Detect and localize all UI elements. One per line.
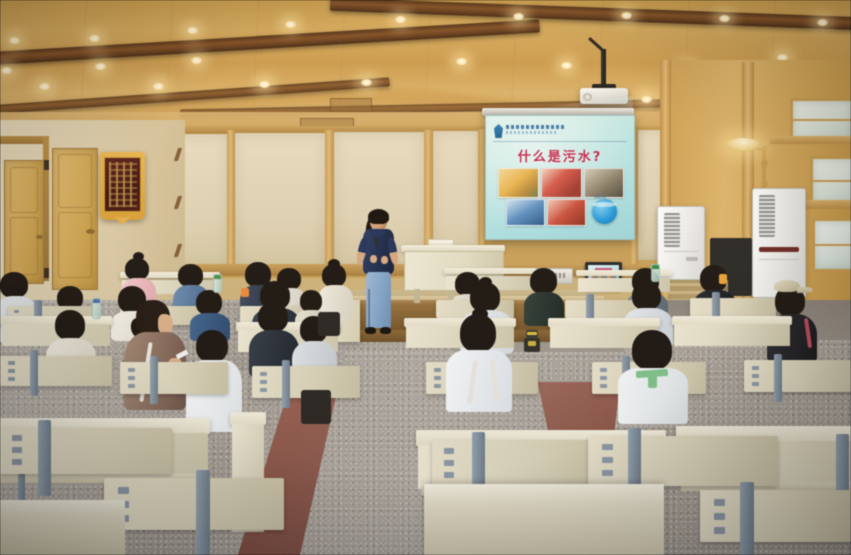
chair-row2[interactable] (0, 356, 112, 386)
chair-nub (600, 376, 607, 380)
chair-nub (444, 448, 454, 454)
person-head (632, 282, 661, 310)
toy-robot-figure (524, 330, 540, 352)
photo-thumb-5 (547, 199, 586, 226)
downlight-icon (190, 56, 203, 65)
photo-thumb-2 (541, 168, 582, 198)
downlight-icon (640, 95, 653, 104)
chair-nub (602, 470, 613, 476)
backpack (301, 390, 331, 424)
chair-post (282, 360, 290, 408)
sconce-bracket (761, 180, 768, 187)
globe-highlight (592, 202, 617, 207)
presenter-collar (371, 229, 385, 236)
air-conditioner-left (657, 206, 705, 280)
chair-nub (434, 376, 441, 380)
person-head (530, 268, 557, 294)
chair-post (150, 356, 158, 404)
presenter-shoe (380, 327, 391, 334)
window-mullion (793, 119, 851, 121)
downlight-icon (560, 61, 573, 70)
door-hinge-strip (44, 268, 49, 278)
person-head (196, 290, 222, 315)
downlight-icon (186, 26, 199, 35)
plaque-calligraphy (109, 162, 137, 207)
door-panel (10, 167, 38, 213)
chair-row4[interactable] (690, 298, 776, 317)
downlight-icon (360, 78, 373, 87)
person-head (55, 310, 85, 340)
chair-back (0, 356, 112, 386)
chair-back (744, 360, 851, 392)
slide-title: 什么是污水? (486, 146, 634, 165)
wall-acoustic-panel (234, 133, 326, 271)
person-head (300, 290, 322, 312)
downlight-icon (718, 14, 731, 23)
chair-nub (14, 310, 19, 313)
small-cup (241, 288, 249, 297)
chair-back (432, 440, 612, 488)
projector-lens-icon (583, 93, 592, 101)
slide-divider (493, 141, 627, 142)
person-head (178, 264, 203, 287)
presenter-leg-seam (368, 289, 370, 327)
chair-back (0, 428, 172, 474)
door-panel (58, 154, 92, 208)
downlight-icon (284, 20, 297, 29)
chair-nub (602, 457, 613, 463)
person-head (470, 282, 500, 312)
chair-post (740, 482, 754, 555)
person-head (460, 314, 496, 352)
door-panel (58, 212, 92, 278)
chair-nub (434, 368, 441, 372)
chair-nub (752, 374, 759, 378)
chair-back (588, 436, 778, 486)
toy-chest-plate (528, 341, 536, 346)
person-head (196, 330, 228, 362)
globe-label: 地球水量 (594, 195, 606, 199)
slide-logo-subtext (506, 131, 556, 134)
desk-row3 (672, 316, 792, 350)
person-head (125, 258, 149, 280)
plaque-board (104, 157, 141, 212)
wall-stile (325, 130, 334, 272)
chair-nub (434, 384, 441, 388)
chair-nub (12, 459, 22, 465)
downlight-icon (620, 11, 633, 20)
chair-front-row[interactable] (104, 478, 284, 530)
photo-thumb-3 (584, 168, 624, 198)
downlight-icon (152, 82, 165, 91)
door-frame (0, 136, 46, 144)
chair-nub (260, 372, 267, 376)
podium-leg (414, 289, 420, 303)
person-face (158, 314, 173, 334)
chair-nub (260, 388, 267, 392)
door-panel (10, 217, 38, 275)
ac-panel-line (759, 259, 799, 260)
ac-vent-slot (686, 257, 698, 261)
wall-plaque (100, 152, 145, 220)
presenter-hand (370, 255, 377, 263)
downlight-icon (0, 66, 13, 75)
chair-nub (714, 527, 725, 534)
chair-nub (128, 376, 135, 380)
window-mullion (813, 180, 851, 182)
person-head (0, 272, 28, 298)
chair-nub (8, 377, 15, 381)
downlight-icon (38, 82, 51, 91)
bottle-cap (652, 265, 659, 269)
chair-row2[interactable] (744, 360, 851, 392)
chair-nub (118, 487, 129, 494)
window (812, 218, 851, 272)
downlight-icon (88, 34, 101, 43)
person-torso (446, 350, 512, 412)
chair-post (196, 470, 210, 555)
chair-row2[interactable] (120, 362, 228, 394)
cap-brim (797, 287, 813, 293)
chair-post (774, 354, 782, 402)
globe-graphic (592, 199, 617, 224)
chair-nub (600, 384, 607, 388)
small-cup (719, 274, 727, 284)
presenter (356, 211, 400, 342)
sconce-light (726, 138, 760, 151)
chair-nub (444, 472, 454, 478)
downlight-icon (94, 62, 107, 71)
red-scarf (648, 374, 657, 388)
chair-post (30, 350, 38, 396)
chair-front-row[interactable] (432, 440, 612, 488)
downlight-icon (816, 18, 829, 27)
chair-post (38, 420, 51, 496)
presenter-jeans (366, 272, 391, 328)
projection-screen: 什么是污水? 地球水量 (485, 115, 635, 240)
water-bottle (651, 264, 660, 282)
presenter-shoe (365, 327, 376, 334)
chair-nub (714, 513, 725, 520)
person-head (322, 264, 346, 287)
downlight-icon (394, 15, 407, 24)
desk-top (444, 268, 536, 274)
chair-front-row[interactable] (588, 436, 778, 486)
chair-back (120, 362, 228, 394)
desk-front (674, 324, 790, 346)
chair-nub (444, 460, 454, 466)
sconce-bracket (761, 160, 768, 167)
chair-nub (752, 366, 759, 370)
door-hinge-strip (44, 160, 49, 170)
water-bottle (213, 274, 222, 293)
slide-logo-text (506, 125, 564, 129)
chair-front-row[interactable] (0, 428, 172, 474)
water-bottle (92, 298, 101, 319)
person-head (632, 330, 672, 370)
chair-back (690, 298, 776, 317)
chair-nub (8, 361, 15, 365)
right-wall-ledge (770, 136, 851, 144)
bottle-cap (214, 275, 221, 279)
door-right[interactable] (52, 148, 98, 290)
chair-nub (128, 368, 135, 372)
chair-nub (752, 382, 759, 386)
presenter-hair (368, 209, 389, 224)
ac-grille-icon (759, 195, 775, 237)
downlight-icon (455, 57, 468, 66)
chair-back (104, 478, 284, 530)
chair-nub (714, 499, 725, 506)
downlight-icon (8, 36, 21, 45)
chair-front-row[interactable] (700, 490, 851, 542)
photo-thumb-4 (506, 199, 545, 226)
ceiling-projector (601, 49, 606, 86)
ac-panel-line (664, 251, 698, 252)
door-left[interactable] (4, 160, 44, 284)
downlight-icon (258, 80, 271, 89)
lecture-hall-photo: 什么是污水? 地球水量 (0, 0, 851, 555)
bottle-cap (93, 299, 100, 303)
chair-nub (128, 384, 135, 388)
door-handle-icon[interactable] (86, 229, 95, 234)
chair-nub (602, 444, 613, 450)
window (810, 156, 851, 206)
chair-nub (600, 368, 607, 372)
person-head (258, 302, 288, 332)
ac-grille-icon (664, 213, 680, 247)
chair-nub (12, 435, 22, 441)
ac-indicator-strip (759, 247, 799, 252)
chair-nub (260, 380, 267, 384)
backpack (318, 312, 340, 336)
door-handle-icon[interactable] (36, 235, 43, 239)
toy-visor (527, 332, 537, 335)
window-mullion (815, 244, 851, 246)
ceiling-vent (330, 98, 372, 112)
downlight-icon (512, 12, 525, 21)
chair-nub (8, 369, 15, 373)
wall-stile (227, 130, 235, 272)
presenter-hand (381, 256, 388, 264)
desk-foreground-slab (0, 500, 125, 555)
photo-thumb-1 (498, 168, 539, 198)
chair-nub (12, 447, 22, 453)
desk-foreground-slab (424, 484, 664, 555)
